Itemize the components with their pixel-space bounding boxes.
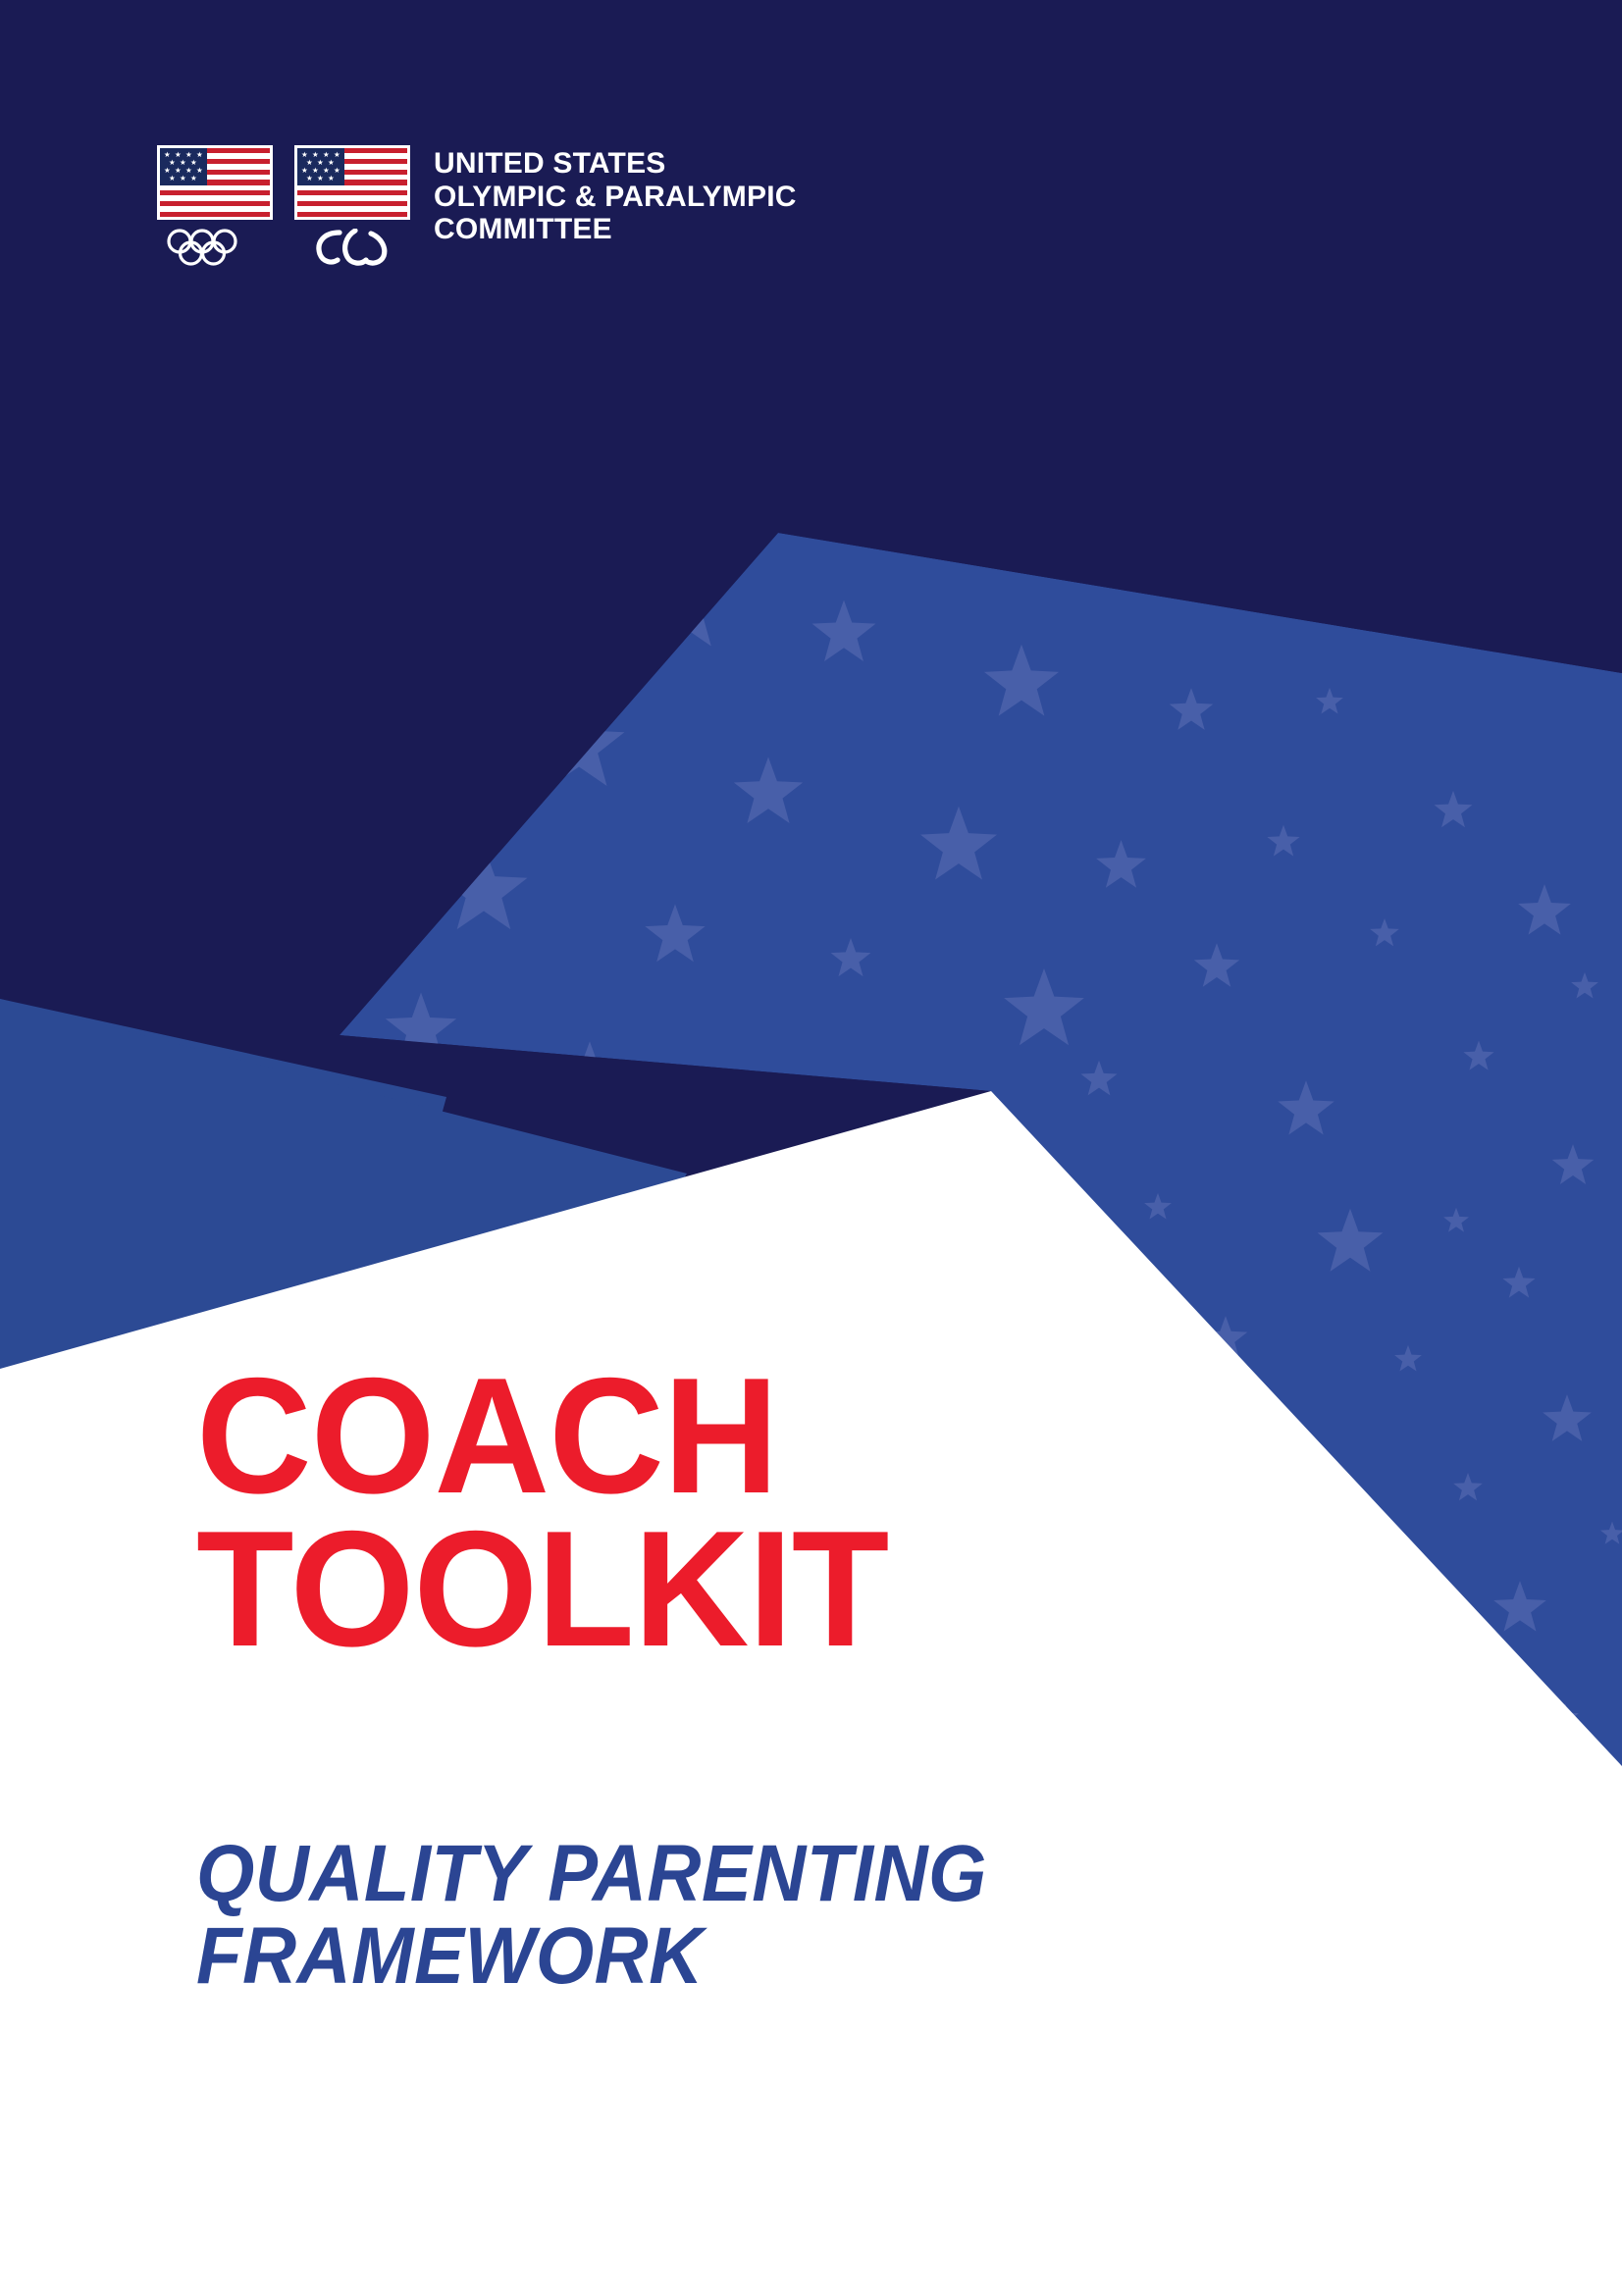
logo-marks: ★ ★ ★ ★ ★ ★ ★ ★ ★ ★ ★ ★ ★ (157, 145, 410, 266)
cover-page: ★ ★ ★ ★ ★ ★ ★ ★ ★ ★ ★ ★ ★ (0, 0, 1622, 2296)
olympic-rings-icon (164, 229, 266, 266)
logo-line-1: UNITED STATES (434, 147, 797, 181)
title-line-toolkit: TOOLKIT (196, 1512, 888, 1665)
subtitle-line-2: FRAMEWORK (196, 1915, 987, 1998)
us-flag-icon: ★ ★ ★ ★ ★ ★ ★ ★ ★ ★ ★ ★ ★ (157, 145, 273, 220)
paralympic-agitos-icon (310, 229, 394, 266)
logo-line-2: OLYMPIC & PARALYMPIC (434, 181, 797, 214)
subtitle-line-1: QUALITY PARENTING (196, 1833, 987, 1915)
title-line-coach: COACH (196, 1359, 888, 1512)
logo-wordmark: UNITED STATES OLYMPIC & PARALYMPIC COMMI… (434, 147, 797, 246)
usopc-logo: ★ ★ ★ ★ ★ ★ ★ ★ ★ ★ ★ ★ ★ (157, 145, 797, 266)
page-title: COACH TOOLKIT (196, 1359, 910, 1665)
olympic-mark: ★ ★ ★ ★ ★ ★ ★ ★ ★ ★ ★ ★ ★ (157, 145, 273, 266)
page-subtitle: QUALITY PARENTING FRAMEWORK (196, 1833, 1047, 1999)
logo-line-3: COMMITTEE (434, 213, 797, 246)
paralympic-mark: ★ ★ ★ ★ ★ ★ ★ ★ ★ ★ ★ ★ ★ (294, 145, 410, 266)
us-flag-icon: ★ ★ ★ ★ ★ ★ ★ ★ ★ ★ ★ ★ ★ (294, 145, 410, 220)
